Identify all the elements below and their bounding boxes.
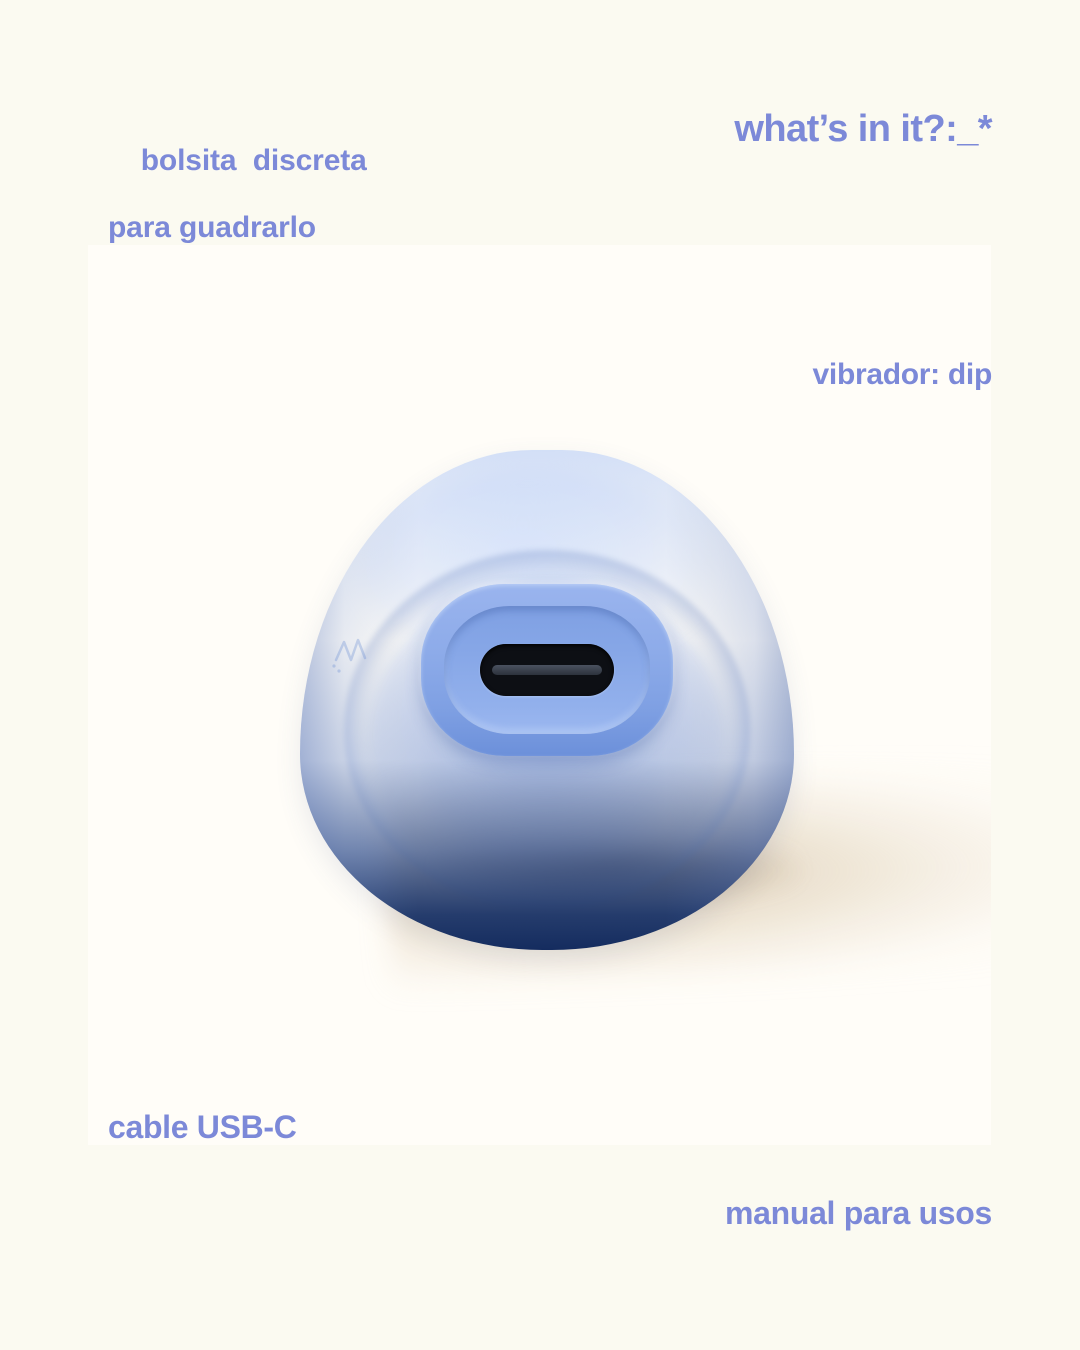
- label-product-name: vibrador: dip: [813, 358, 992, 392]
- embossed-logo-mark: [330, 630, 388, 678]
- page-title: what’s in it?:_*: [734, 108, 992, 151]
- product-photo-dip-vibrator: [300, 450, 794, 950]
- device-body: [300, 450, 794, 950]
- label-cable: cable USB-C: [108, 1110, 297, 1146]
- poster-canvas: bolsita discreta para guadrarlo what’s i…: [0, 0, 1080, 1350]
- port-plateau: [421, 584, 673, 756]
- kicker-line-2: para guadrarlo: [108, 211, 367, 245]
- label-manual: manual para usos: [725, 1196, 992, 1232]
- usb-c-port-icon: [480, 644, 614, 696]
- kicker-line-1: bolsita discreta: [141, 144, 367, 177]
- usb-c-tongue: [492, 665, 602, 675]
- port-well: [444, 606, 650, 734]
